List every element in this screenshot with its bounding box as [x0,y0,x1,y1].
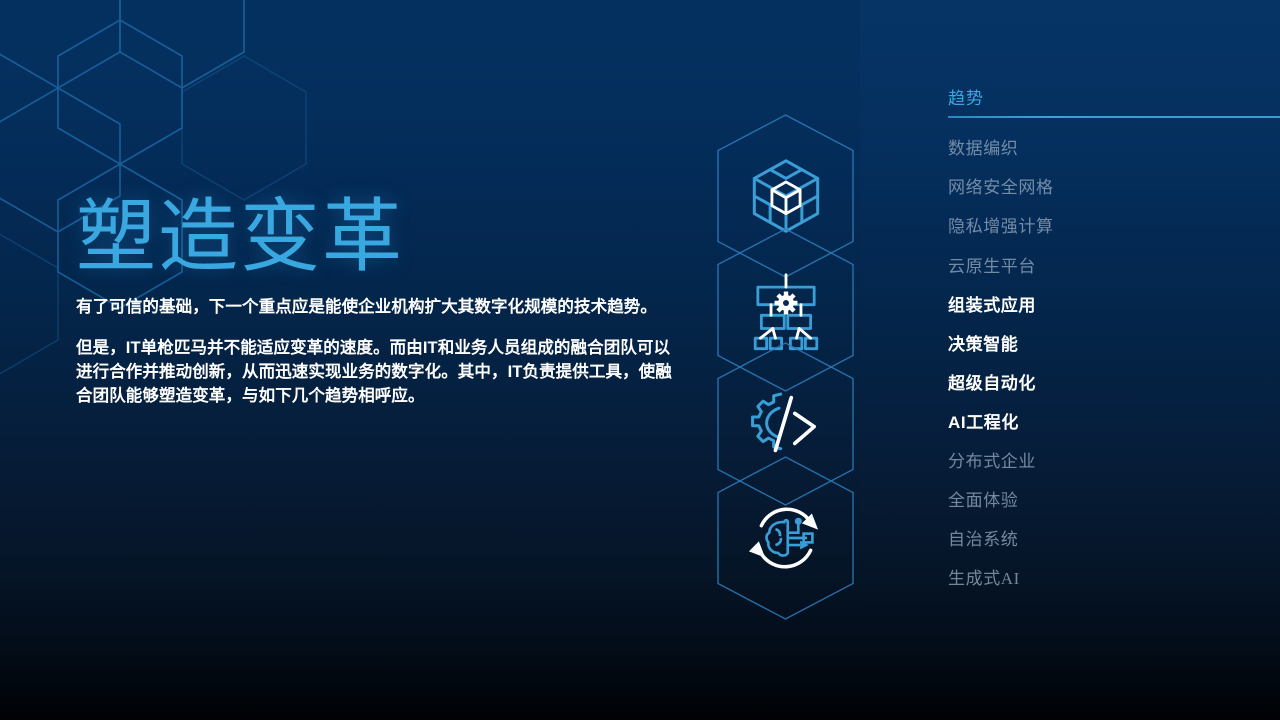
ai-brain-cycle-icon [742,494,830,582]
trend-item[interactable]: 生成式AI [948,570,1280,587]
slide-text-block: 塑造变革 有了可信的基础，下一个重点应是能使企业机构扩大其数字化规模的技术趋势。… [76,196,676,408]
page-title: 塑造变革 [76,196,676,281]
trend-item[interactable]: 分布式企业 [948,453,1280,470]
slide-canvas: 塑造变革 有了可信的基础，下一个重点应是能使企业机构扩大其数字化规模的技术趋势。… [0,0,1280,720]
trend-item[interactable]: 网络安全网格 [948,179,1280,196]
trend-item[interactable]: 自治系统 [948,531,1280,548]
trend-item[interactable]: 隐私增强计算 [948,218,1280,235]
trend-item[interactable]: 云原生平台 [948,258,1280,275]
trend-item[interactable]: 超级自动化 [948,375,1280,392]
trend-item[interactable]: 组装式应用 [948,297,1280,314]
sidebar-heading: 趋势 [948,84,1280,109]
trend-item[interactable]: 数据编织 [948,140,1280,157]
trend-item[interactable]: 全面体验 [948,492,1280,509]
trend-item[interactable]: AI工程化 [948,414,1280,431]
trends-sidebar: 趋势 数据编织网络安全网格隐私增强计算云原生平台组装式应用决策智能超级自动化AI… [948,84,1280,609]
hex-cell-ai-engineering[interactable] [713,454,858,622]
body-paragraph-1: 有了可信的基础，下一个重点应是能使企业机构扩大其数字化规模的技术趋势。 [76,295,676,319]
sidebar-divider [948,116,1280,118]
trend-item[interactable]: 决策智能 [948,336,1280,353]
body-paragraph-2: 但是，IT单枪匹马并不能适应变革的速度。而由IT和业务人员组成的融合团队可以进行… [76,336,676,408]
trend-list: 数据编织网络安全网格隐私增强计算云原生平台组装式应用决策智能超级自动化AI工程化… [948,140,1280,587]
hexagon-icon-column [713,112,858,582]
